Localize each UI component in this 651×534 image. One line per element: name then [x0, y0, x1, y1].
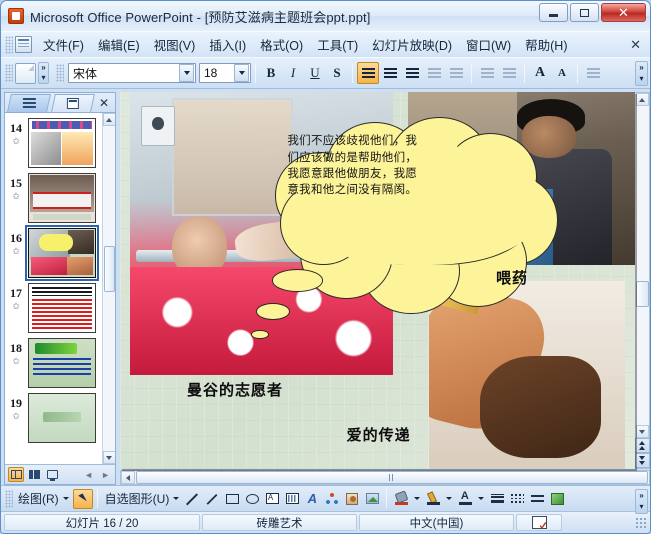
drawing-toolbar: 绘图(R) 自选图形(U) A »▾	[1, 485, 650, 511]
window-title: Microsoft Office PowerPoint - [预防艾滋病主题班会…	[30, 7, 370, 26]
slide-number: 17	[10, 286, 22, 301]
line-color-tool[interactable]	[423, 489, 443, 509]
menu-tools[interactable]: 工具(T)	[310, 32, 365, 57]
underline-button[interactable]: U	[304, 62, 326, 84]
scroll-down-button[interactable]	[636, 425, 649, 438]
menu-edit[interactable]: 编辑(E)	[91, 32, 147, 57]
status-bar: 幻灯片 16 / 20 砖雕艺术 中文(中国)	[1, 511, 650, 533]
slide-editing-area: 我们不应该歧视他们，我 们应该做的是帮助他们， 我愿意跟他做朋友，我愿 意我和他…	[116, 89, 650, 485]
italic-button[interactable]: I	[282, 62, 304, 84]
thumbnail-list: 14 ✩ 15 ✩ 16	[5, 113, 115, 464]
font-size-dropdown-arrow[interactable]	[234, 64, 249, 82]
thumbnail-item-17[interactable]: 17 ✩	[7, 283, 100, 333]
align-left-button[interactable]	[357, 62, 379, 84]
scroll-down-button[interactable]	[103, 451, 116, 464]
menu-format[interactable]: 格式(O)	[253, 32, 310, 57]
font-size-combo[interactable]: 18	[199, 63, 251, 83]
previous-slide-button[interactable]	[635, 438, 650, 453]
diagram-tool[interactable]	[322, 489, 342, 509]
minimize-button[interactable]	[539, 3, 568, 22]
menu-grip[interactable]	[5, 36, 13, 54]
thought-dot-large	[272, 269, 324, 292]
slideshow-button[interactable]	[44, 467, 60, 482]
slide-thumbnail[interactable]	[28, 338, 96, 388]
pane-scroll-left-icon[interactable]: ◄	[82, 470, 95, 480]
font-name-combo[interactable]: 宋体	[68, 63, 196, 83]
title-bar: Microsoft Office PowerPoint - [预防艾滋病主题班会…	[1, 1, 650, 31]
powerpoint-icon	[8, 8, 24, 24]
menu-window[interactable]: 窗口(W)	[459, 32, 518, 57]
slide-number: 18	[10, 341, 22, 356]
scroll-track[interactable]	[635, 106, 649, 425]
bold-button[interactable]: B	[260, 62, 282, 84]
resize-grip[interactable]	[635, 517, 647, 529]
spell-check-status[interactable]	[516, 514, 562, 531]
powerpoint-window: Microsoft Office PowerPoint - [预防艾滋病主题班会…	[0, 0, 651, 534]
wordart-tool[interactable]: A	[302, 489, 322, 509]
menu-file[interactable]: 文件(F)	[36, 32, 91, 57]
dash-style-tool[interactable]	[507, 489, 527, 509]
scroll-thumb[interactable]	[136, 471, 648, 484]
animation-star-icon: ✩	[12, 137, 20, 146]
close-button[interactable]: ✕	[601, 3, 646, 22]
slide-thumbnail[interactable]	[28, 173, 96, 223]
thumbnail-item-16[interactable]: 16 ✩	[7, 228, 100, 278]
slide-number: 16	[10, 231, 22, 246]
slide-thumbnail-selected[interactable]	[28, 228, 96, 278]
thumbnail-item-19[interactable]: 19 ✩	[7, 393, 100, 443]
align-justify-button[interactable]	[423, 62, 445, 84]
animation-star-icon: ✩	[12, 192, 20, 201]
draw-menu-button[interactable]: 绘图(R)	[15, 490, 62, 507]
font-name-dropdown-arrow[interactable]	[179, 64, 194, 82]
new-document-button[interactable]	[15, 63, 36, 84]
picture-tool[interactable]	[362, 489, 382, 509]
drawing-toolbar-overflow[interactable]: »▾	[635, 489, 648, 514]
font-size-value: 18	[200, 66, 234, 80]
scroll-up-button[interactable]	[636, 93, 649, 106]
line-style-tool[interactable]	[487, 489, 507, 509]
thumbnail-item-18[interactable]: 18 ✩	[7, 338, 100, 388]
normal-view-button[interactable]	[8, 467, 24, 482]
oval-tool[interactable]	[242, 489, 262, 509]
text-box-tool[interactable]	[262, 489, 282, 509]
rectangle-tool[interactable]	[222, 489, 242, 509]
align-right-button[interactable]	[401, 62, 423, 84]
bulleted-list-button[interactable]	[498, 62, 520, 84]
thumbnail-scrollbar[interactable]	[102, 113, 115, 464]
fill-color-tool[interactable]	[391, 489, 411, 509]
slide-horizontal-scrollbar[interactable]	[120, 470, 650, 485]
clip-art-tool[interactable]	[342, 489, 362, 509]
menu-insert[interactable]: 插入(I)	[202, 32, 253, 57]
slide-thumbnail-pane: ✕ 14 ✩ 15 ✩	[4, 92, 116, 485]
standard-toolbar-overflow[interactable]: »▾	[38, 62, 49, 84]
pane-scroll-right-icon[interactable]: ►	[99, 470, 112, 480]
document-icon	[15, 36, 32, 53]
arrow-style-tool[interactable]	[527, 489, 547, 509]
slides-tab[interactable]	[51, 94, 95, 112]
decrease-font-size-button[interactable]: A	[551, 62, 573, 84]
slide-stage[interactable]: 我们不应该歧视他们，我 们应该做的是帮助他们， 我愿意跟他做朋友，我愿 意我和他…	[120, 92, 635, 469]
slide-number: 19	[10, 396, 22, 411]
scroll-thumb[interactable]	[636, 281, 649, 307]
slide-vertical-scrollbar[interactable]	[635, 92, 650, 469]
thumbnail-item-15[interactable]: 15 ✩	[7, 173, 100, 223]
bubble-line-4: 意我和他之间没有隔阂。	[287, 182, 503, 198]
increase-font-size-button[interactable]: A	[529, 62, 551, 84]
animation-star-icon: ✩	[12, 412, 20, 421]
close-pane-button[interactable]: ✕	[99, 96, 109, 110]
formatting-toolbar-grip[interactable]	[56, 64, 64, 82]
drawing-toolbar-grip[interactable]	[5, 490, 13, 508]
scroll-up-button[interactable]	[103, 113, 116, 126]
animation-star-icon: ✩	[12, 357, 20, 366]
text-shadow-button[interactable]: S	[326, 62, 348, 84]
formatting-toolbar: »▾ 宋体 18 B I U S	[1, 57, 650, 89]
menu-help[interactable]: 帮助(H)	[518, 32, 574, 57]
formatting-toolbar-overflow[interactable]: »▾	[635, 61, 648, 86]
language-indicator[interactable]: 中文(中国)	[359, 514, 514, 531]
autoshapes-menu-button[interactable]: 自选图形(U)	[102, 490, 173, 507]
slide-sorter-button[interactable]	[26, 467, 42, 482]
view-buttons-bar: ◄ ►	[5, 464, 115, 484]
work-area: ✕ 14 ✩ 15 ✩	[1, 89, 650, 485]
slide-number: 14	[10, 121, 22, 136]
scroll-left-button[interactable]	[121, 471, 135, 484]
slide-thumbnail[interactable]	[28, 393, 96, 443]
window-controls: ✕	[539, 3, 646, 22]
outline-tab[interactable]	[7, 94, 51, 112]
thought-dot-medium	[256, 303, 289, 320]
thumbnail-item-14[interactable]: 14 ✩	[7, 118, 100, 168]
select-arrow-tool[interactable]	[73, 489, 93, 509]
design-template-name[interactable]: 砖雕艺术	[202, 514, 357, 531]
menu-bar: 文件(F) 编辑(E) 视图(V) 插入(I) 格式(O) 工具(T) 幻灯片放…	[1, 31, 650, 57]
line-spacing-button[interactable]	[445, 62, 467, 84]
arrow-tool[interactable]	[202, 489, 222, 509]
thought-bubble-text: 我们不应该歧视他们，我 们应该做的是帮助他们， 我愿意跟他做朋友，我愿 意我和他…	[287, 133, 503, 198]
standard-toolbar-grip[interactable]	[5, 64, 13, 82]
close-document-button[interactable]: ✕	[630, 37, 641, 53]
slide-number: 15	[10, 176, 22, 191]
font-color-tool[interactable]	[455, 489, 475, 509]
numbered-list-button[interactable]	[476, 62, 498, 84]
line-tool[interactable]	[182, 489, 202, 509]
next-slide-button[interactable]	[635, 453, 650, 468]
current-slide[interactable]: 我们不应该歧视他们，我 们应该做的是帮助他们， 我愿意跟他做朋友，我愿 意我和他…	[120, 92, 635, 469]
scroll-thumb[interactable]	[104, 246, 115, 292]
font-name-value: 宋体	[69, 65, 179, 82]
animation-star-icon: ✩	[12, 247, 20, 256]
pane-tab-strip: ✕	[5, 93, 115, 113]
photo-holding-hands[interactable]	[429, 281, 625, 470]
caption-love-transmission[interactable]: 爱的传递	[347, 424, 411, 445]
slide-counter: 幻灯片 16 / 20	[4, 514, 200, 531]
bubble-line-1: 我们不应该歧视他们，我	[287, 133, 503, 149]
vertical-text-box-tool[interactable]	[282, 489, 302, 509]
bubble-line-3: 我愿意跟他做朋友，我愿	[287, 166, 503, 182]
slide-thumbnail[interactable]	[28, 283, 96, 333]
three-d-style-tool[interactable]	[547, 489, 567, 509]
caption-feeding-medicine[interactable]: 喂药	[496, 267, 528, 288]
animation-star-icon: ✩	[12, 302, 20, 311]
decrease-indent-button[interactable]	[582, 62, 604, 84]
slide-thumbnail[interactable]	[28, 118, 96, 168]
align-center-button[interactable]	[379, 62, 401, 84]
menu-slideshow[interactable]: 幻灯片放映(D)	[365, 32, 459, 57]
menu-view[interactable]: 视图(V)	[147, 32, 203, 57]
maximize-button[interactable]	[570, 3, 599, 22]
caption-bangkok-volunteers[interactable]: 曼谷的志愿者	[187, 379, 283, 400]
spell-check-icon	[532, 516, 547, 529]
scroll-track[interactable]	[103, 126, 116, 451]
bubble-line-2: 们应该做的是帮助他们，	[287, 150, 503, 166]
